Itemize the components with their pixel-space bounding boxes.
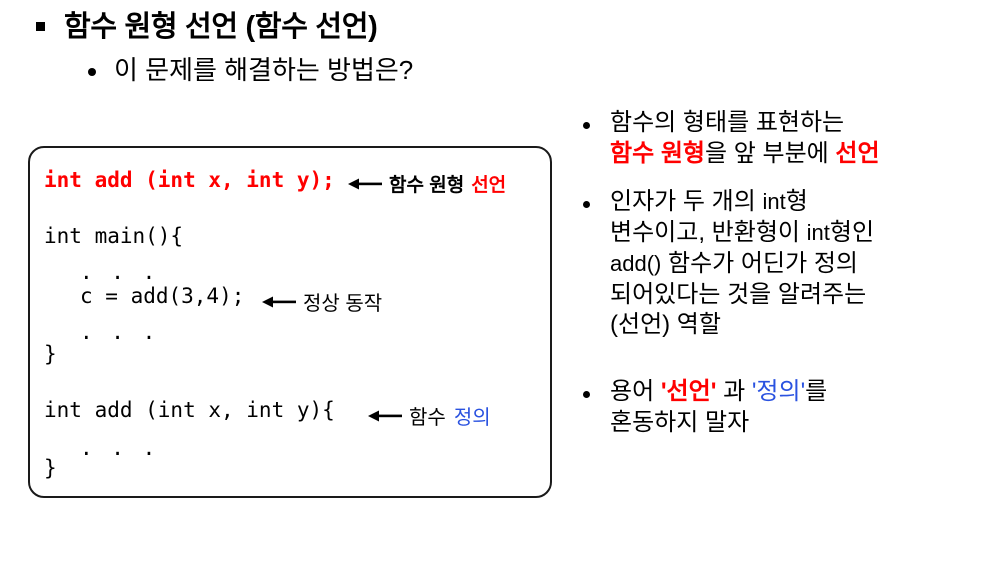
annotation-prototype-red: 선언 bbox=[471, 170, 506, 197]
text-span: 함수 원형 bbox=[610, 140, 705, 167]
text-span: 형인 bbox=[830, 219, 874, 246]
right-column: 함수의 형태를 표현하는함수 원형을 앞 부분에 선언인자가 두 개의 int형… bbox=[575, 108, 990, 438]
code-line-dots-2: . . . bbox=[80, 320, 158, 344]
square-bullet-icon bbox=[36, 22, 45, 31]
round-bullet-icon bbox=[583, 122, 590, 129]
right-bullet-3-line-2: 혼동하지 말자 bbox=[610, 408, 827, 439]
text-span: 되어있다는 것을 알려주는 bbox=[610, 281, 866, 308]
annotation-prototype: 함수 원형 선언 bbox=[348, 170, 506, 197]
right-bullet-text-2: 인자가 두 개의 int형변수이고, 반환형이 int형인add() 함수가 어… bbox=[610, 187, 874, 341]
text-span: 함수가 어딘가 정의 bbox=[661, 250, 858, 277]
text-span: 함수의 형태를 표현하는 bbox=[610, 109, 844, 136]
round-bullet-icon bbox=[583, 391, 590, 398]
text-span: '정의' bbox=[752, 378, 805, 405]
right-bullet-3: 용어 '선언' 과 '정의'를혼동하지 말자 bbox=[575, 377, 990, 438]
subtitle-row: 이 문제를 해결하는 방법은? bbox=[0, 49, 600, 87]
left-arrow-icon bbox=[348, 177, 382, 191]
text-span: 과 bbox=[716, 378, 751, 405]
text-span: int bbox=[807, 220, 830, 245]
right-bullet-text-1: 함수의 형태를 표현하는함수 원형을 앞 부분에 선언 bbox=[610, 108, 880, 169]
text-span: int bbox=[762, 189, 785, 214]
right-bullet-1-line-2: 함수 원형을 앞 부분에 선언 bbox=[610, 139, 880, 170]
code-line-dots-1: . . . bbox=[80, 260, 158, 284]
code-line-call: c = add(3,4); bbox=[80, 286, 244, 307]
right-bullet-2-line-1: 인자가 두 개의 int형 bbox=[610, 187, 874, 218]
title-row: 함수 원형 선언 (함수 선언) bbox=[0, 0, 600, 45]
text-span: 혼동하지 말자 bbox=[610, 409, 749, 436]
right-bullet-2: 인자가 두 개의 int형변수이고, 반환형이 int형인add() 함수가 어… bbox=[575, 187, 990, 341]
title-block: 함수 원형 선언 (함수 선언) 이 문제를 해결하는 방법은? bbox=[0, 0, 600, 87]
text-span: 을 앞 부분에 bbox=[705, 140, 835, 167]
text-span: '선언' bbox=[661, 378, 717, 405]
text-span: (선언) 역할 bbox=[610, 311, 721, 338]
code-line-close-2: } bbox=[44, 458, 57, 479]
annotation-definition-black: 함수 bbox=[409, 401, 446, 430]
text-span: 선언 bbox=[835, 140, 879, 167]
bullet-spacer bbox=[575, 341, 990, 377]
code-line-prototype: int add (int x, int y); bbox=[44, 170, 335, 191]
text-span: 용어 bbox=[610, 378, 661, 405]
bullet-spacer bbox=[575, 169, 990, 187]
page-subtitle: 이 문제를 해결하는 방법은? bbox=[114, 54, 413, 87]
annotation-call-text: 정상 동작 bbox=[303, 287, 382, 316]
code-line-definition-open: int add (int x, int y){ bbox=[44, 400, 335, 421]
code-line-main-open: int main(){ bbox=[44, 226, 183, 247]
round-bullet-icon bbox=[88, 68, 96, 76]
page-title: 함수 원형 선언 (함수 선언) bbox=[64, 9, 378, 45]
annotation-prototype-black: 함수 원형 bbox=[389, 170, 464, 197]
text-span: 형 bbox=[786, 188, 808, 215]
right-bullet-text-3: 용어 '선언' 과 '정의'를혼동하지 말자 bbox=[610, 377, 827, 438]
text-span: add() bbox=[610, 251, 661, 276]
annotation-call: 정상 동작 bbox=[262, 287, 382, 316]
right-bullet-3-line-1: 용어 '선언' 과 '정의'를 bbox=[610, 377, 827, 408]
left-arrow-icon bbox=[262, 295, 296, 309]
left-arrow-icon bbox=[368, 409, 402, 423]
right-bullet-2-line-2: 변수이고, 반환형이 int형인 bbox=[610, 218, 874, 249]
right-bullet-2-line-4: 되어있다는 것을 알려주는 bbox=[610, 280, 874, 311]
annotation-definition: 함수 정의 bbox=[368, 401, 491, 430]
text-span: 를 bbox=[805, 378, 827, 405]
code-line-dots-3: . . . bbox=[80, 436, 158, 460]
right-bullet-1-line-1: 함수의 형태를 표현하는 bbox=[610, 108, 880, 139]
right-bullet-2-line-5: (선언) 역할 bbox=[610, 310, 874, 341]
code-example-box: int add (int x, int y); 함수 원형 선언 int mai… bbox=[28, 146, 552, 498]
round-bullet-icon bbox=[583, 201, 590, 208]
text-span: 인자가 두 개의 bbox=[610, 188, 762, 215]
right-bullet-2-line-3: add() 함수가 어딘가 정의 bbox=[610, 249, 874, 280]
text-span: 변수이고, 반환형이 bbox=[610, 219, 807, 246]
annotation-definition-blue: 정의 bbox=[454, 401, 491, 430]
right-bullet-1: 함수의 형태를 표현하는함수 원형을 앞 부분에 선언 bbox=[575, 108, 990, 169]
code-line-close-1: } bbox=[44, 344, 57, 365]
